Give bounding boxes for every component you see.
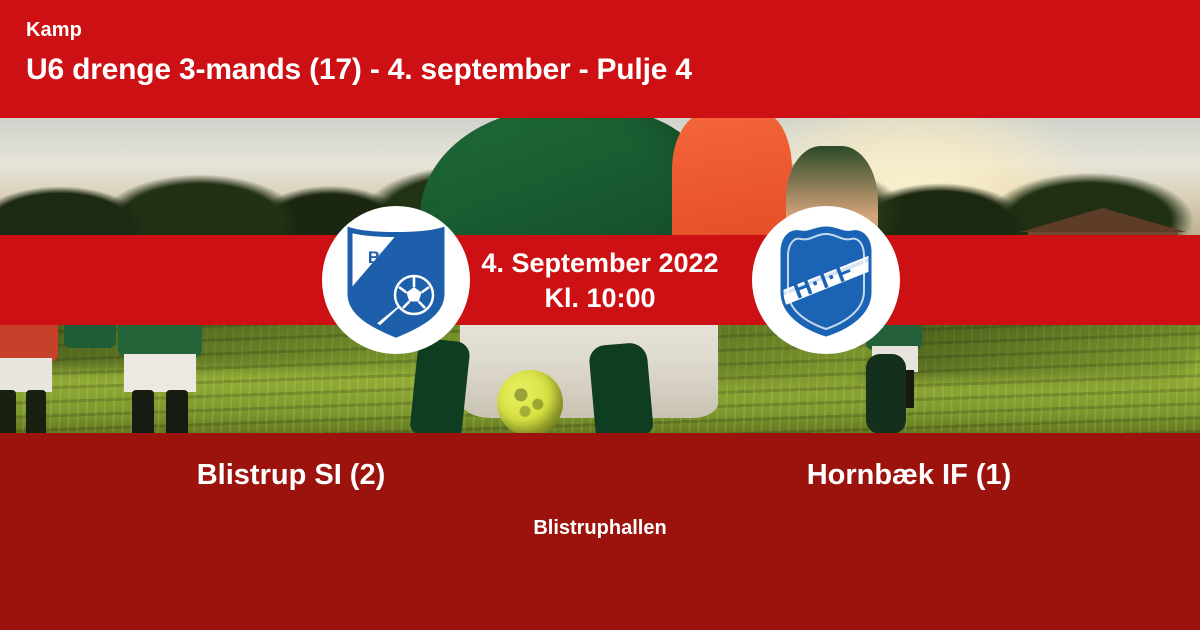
background-player	[132, 390, 154, 433]
background-player	[0, 358, 52, 392]
foreground-player-sock	[409, 338, 471, 433]
background-player	[166, 390, 188, 433]
result-band: Blistrup SI (2) Hornbæk IF (1) Blistruph…	[0, 433, 1200, 630]
team-names-row: Blistrup SI (2) Hornbæk IF (1)	[0, 455, 1200, 495]
match-date: 4. September 2022	[481, 246, 718, 280]
venue-name: Blistruphallen	[0, 515, 1200, 541]
away-team-name: Hornbæk IF (1)	[600, 455, 1200, 495]
bsi-crest-icon: B S I	[344, 222, 448, 338]
home-team-name: Blistrup SI (2)	[0, 455, 600, 495]
poster-header: Kamp U6 drenge 3-mands (17) - 4. septemb…	[0, 0, 1200, 118]
hif-crest-icon: H·I·F	[774, 222, 878, 338]
svg-text:B: B	[368, 248, 380, 267]
header-kicker: Kamp	[26, 18, 1200, 42]
foreground-player-sock	[588, 342, 654, 433]
home-team-crest: B S I	[322, 206, 470, 354]
background-player	[26, 390, 46, 433]
match-datetime-banner: 4. September 2022 Kl. 10:00	[0, 235, 1200, 325]
background-player	[124, 354, 196, 392]
svg-text:I: I	[372, 290, 377, 309]
match-poster: Kamp U6 drenge 3-mands (17) - 4. septemb…	[0, 0, 1200, 630]
football-icon	[497, 370, 563, 433]
match-datetime-text: 4. September 2022 Kl. 10:00	[440, 235, 760, 325]
match-time: Kl. 10:00	[544, 281, 655, 315]
away-team-crest: H·I·F	[752, 206, 900, 354]
svg-text:S: S	[368, 269, 379, 288]
page-title: U6 drenge 3-mands (17) - 4. september - …	[26, 51, 1200, 89]
background-player	[0, 390, 16, 433]
foreground-player-sock	[866, 354, 906, 433]
